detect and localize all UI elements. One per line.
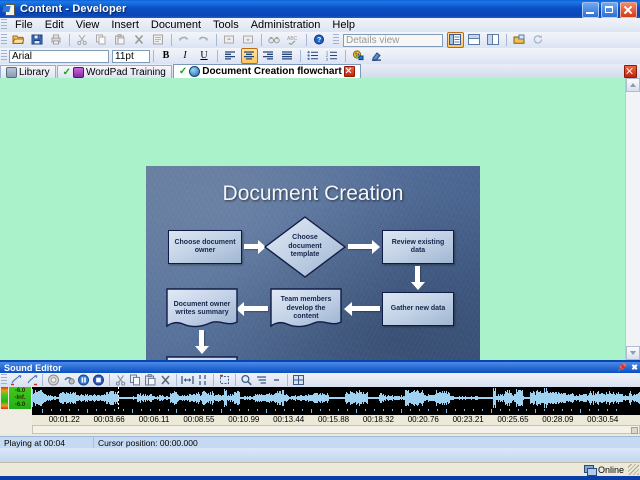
insert-after-button[interactable] — [25, 374, 38, 386]
view-select[interactable]: Details view — [343, 34, 443, 47]
menu-edit[interactable]: Edit — [39, 19, 70, 32]
toolbar-separator — [109, 374, 110, 386]
align-left-button[interactable] — [222, 48, 239, 64]
maximize-button[interactable] — [601, 2, 618, 18]
play-button[interactable] — [62, 374, 75, 386]
align-center-button[interactable] — [241, 48, 258, 64]
timeline-tick — [383, 409, 384, 411]
library-icon — [6, 67, 17, 78]
sound-editor-controls: 📌 ✖ — [617, 362, 638, 373]
tab-label: WordPad Training — [86, 67, 166, 78]
paste-button[interactable] — [144, 374, 157, 386]
levels-button[interactable] — [255, 374, 268, 386]
timeline-tick — [562, 409, 563, 411]
redo-button — [195, 32, 212, 48]
timeline-tick — [176, 409, 177, 413]
svg-text:3: 3 — [326, 57, 328, 61]
tab-label: Library — [19, 67, 50, 78]
check-icon: ✓ — [63, 68, 71, 77]
font-name-select[interactable]: Arial — [9, 50, 109, 63]
meter-bottom-label: -6.0 — [15, 402, 25, 408]
resize-grip[interactable] — [628, 464, 639, 475]
sound-editor-title-bar: Sound Editor 📌 ✖ — [0, 362, 640, 373]
format-toolbar: Arial 11pt B I U 123 — [0, 48, 640, 65]
view-toolbar-grip[interactable] — [333, 34, 339, 46]
toolbar-separator — [153, 50, 154, 62]
timeline-label: 00:20.76 — [408, 415, 439, 424]
timeline-tick — [589, 409, 590, 411]
toolbar-separator — [217, 50, 218, 62]
timeline-tick — [194, 409, 195, 411]
window-bottom-border — [0, 476, 640, 480]
spellcheck-button: ABC — [285, 32, 302, 48]
timeline-tick — [248, 409, 249, 411]
node-label: Choose document owner — [171, 239, 239, 256]
split-vertical-button[interactable] — [485, 32, 502, 48]
connector-summary-to-publish — [198, 330, 205, 354]
toolbar-separator — [506, 34, 507, 46]
timeline-tick — [51, 409, 52, 411]
copy-button — [93, 32, 110, 48]
meter-mid-label: -Inf. — [15, 395, 26, 401]
window-controls — [582, 2, 637, 18]
main-toolbar: ABC ? Details view — [0, 32, 640, 49]
timeline-tick — [293, 409, 294, 411]
node-choose-owner[interactable]: Choose document owner — [168, 230, 242, 264]
timeline-tick — [482, 409, 483, 411]
meter-top-label: -6.0 — [15, 388, 25, 394]
undo-button — [176, 32, 193, 48]
stop-button[interactable] — [92, 374, 105, 386]
insert-before-button[interactable] — [10, 374, 23, 386]
timeline-tick — [455, 409, 456, 411]
italic-button[interactable]: I — [177, 48, 194, 64]
online-label: Online — [598, 465, 624, 475]
toolbar-separator — [306, 34, 307, 46]
markers-button[interactable] — [196, 374, 209, 386]
toolbar-separator — [261, 34, 262, 46]
menu-bar: File Edit View Insert Document Tools Adm… — [0, 18, 640, 33]
format-toolbar-grip[interactable] — [1, 50, 7, 62]
zoom-button[interactable] — [240, 374, 253, 386]
timeline-tick — [329, 409, 330, 411]
delete-button — [131, 32, 148, 48]
menu-view[interactable]: View — [70, 19, 106, 32]
svg-text:?: ? — [317, 37, 321, 44]
timeline-tick — [535, 409, 536, 413]
timeline-tick — [87, 409, 88, 413]
timeline-tick — [96, 409, 97, 411]
timeline-tick — [123, 409, 124, 411]
node-label: Gather new data — [391, 305, 445, 314]
underline-button[interactable]: U — [196, 48, 213, 64]
menu-document[interactable]: Document — [145, 19, 207, 32]
timeline-tick — [571, 409, 572, 411]
timeline-tick — [365, 409, 366, 411]
timeline-label: 00:25.65 — [497, 415, 528, 424]
timeline-tick — [401, 409, 402, 413]
waveform-horizontal-scrollbar[interactable] — [32, 425, 640, 434]
toolbar-separator — [235, 374, 236, 386]
timeline-tick — [105, 409, 106, 411]
scroll-down-button[interactable] — [626, 346, 640, 360]
network-online-icon — [584, 465, 595, 474]
timeline-tick — [347, 409, 348, 411]
sound-editor-toolbar — [0, 373, 640, 388]
toolbar-separator — [42, 374, 43, 386]
scroll-thumb[interactable] — [631, 427, 638, 434]
audio-waveform[interactable] — [32, 387, 640, 409]
online-status: Online — [584, 465, 624, 475]
level-meter-gradient — [1, 387, 8, 409]
menu-file[interactable]: File — [9, 19, 39, 32]
toolbar-separator — [216, 34, 217, 46]
split-horizontal-button[interactable] — [466, 32, 483, 48]
toolbar-grip[interactable] — [1, 34, 7, 46]
timeline-tick — [374, 409, 375, 411]
timeline-tick — [203, 409, 204, 411]
timeline-label: 00:10.99 — [228, 415, 259, 424]
bulleted-list-button[interactable] — [305, 48, 322, 64]
svg-text:ABC: ABC — [287, 36, 298, 42]
select-all-button[interactable] — [181, 374, 194, 386]
timeline-tick — [42, 409, 43, 413]
connector-gather-to-team — [344, 305, 380, 312]
menu-tools[interactable]: Tools — [207, 19, 245, 32]
timeline-label: 00:30.54 — [587, 415, 618, 424]
timeline-labels: 00:01.2200:03.6600:06.1100:08.5500:10.99… — [32, 415, 640, 425]
grid-view-button[interactable] — [292, 374, 305, 386]
node-label: Document owner writes summary — [168, 301, 236, 318]
cut-button[interactable] — [114, 374, 127, 386]
timeline-tick — [159, 409, 160, 411]
node-review-data[interactable]: Review existing data — [382, 230, 454, 264]
application-window: Content - Developer File Edit View Inser… — [0, 0, 640, 480]
timeline-tick — [491, 409, 492, 413]
timeline-tick — [419, 409, 420, 411]
toolbar-separator — [171, 34, 172, 46]
timeline-tick — [302, 409, 303, 411]
window-title: Content - Developer — [20, 3, 126, 15]
toolbar-separator — [176, 374, 177, 386]
toolbar-separator — [213, 374, 214, 386]
timeline-tick — [239, 409, 240, 411]
wordpad-icon — [73, 67, 84, 78]
menu-administration[interactable]: Administration — [245, 19, 327, 32]
timeline-tick — [428, 409, 429, 411]
menu-insert[interactable]: Insert — [105, 19, 145, 32]
timeline-tick — [284, 409, 285, 411]
title-bar: Content - Developer — [0, 0, 640, 18]
tab-document-creation-flowchart[interactable]: ✓ Document Creation flowchart — [173, 64, 361, 78]
timeline-tick — [607, 409, 608, 411]
timeline-label: 00:03.66 — [94, 415, 125, 424]
toolbar-separator — [287, 374, 288, 386]
timeline-tick — [544, 409, 545, 411]
timeline-label: 00:23.21 — [453, 415, 484, 424]
toolbar-separator — [345, 50, 346, 62]
timeline-tick — [392, 409, 393, 411]
flowchart-globe-icon — [189, 66, 200, 77]
waveform-area: -6.0 -Inf. -6.0 — [0, 387, 640, 409]
document-vertical-scrollbar[interactable] — [625, 78, 640, 360]
sound-toolbar-grip[interactable] — [1, 374, 7, 386]
timeline-tick — [446, 409, 447, 413]
timeline-tick — [473, 409, 474, 411]
timeline-label: 00:15.88 — [318, 415, 349, 424]
refresh-button — [530, 32, 547, 48]
move-down-button — [240, 32, 257, 48]
timeline-tick — [526, 409, 527, 411]
node-label: Review existing data — [385, 239, 451, 256]
bold-label: B — [160, 50, 172, 61]
timeline-tick — [338, 409, 339, 411]
paste-button — [112, 32, 129, 48]
flowchart-slide[interactable]: Document Creation Choose document owner … — [146, 166, 480, 360]
properties-button — [150, 32, 167, 48]
numbered-list-button[interactable]: 123 — [324, 48, 341, 64]
help-button[interactable]: ? — [311, 32, 328, 48]
timeline-tick — [500, 409, 501, 411]
close-button[interactable] — [620, 2, 637, 18]
timeline-tick — [553, 409, 554, 411]
app-icon — [3, 3, 16, 16]
move-up-button — [221, 32, 238, 48]
cut-button — [74, 32, 91, 48]
timeline-tick — [320, 409, 321, 411]
tab-wordpad-training[interactable]: ✓ WordPad Training — [57, 65, 172, 78]
check-icon: ✓ — [179, 67, 187, 76]
node-gather-data[interactable]: Gather new data — [382, 292, 454, 326]
connector-owner-to-template — [244, 243, 266, 250]
node-team-content[interactable]: Team members develop the content — [270, 288, 342, 330]
node-label: Choose document template — [275, 234, 335, 260]
find-button — [266, 32, 283, 48]
timeline-label: 00:28.09 — [542, 415, 573, 424]
timeline-label: 00:01.22 — [49, 415, 80, 424]
sound-editor-panel: Sound Editor 📌 ✖ — [0, 362, 640, 465]
timeline-tick — [266, 409, 267, 413]
timeline-label: 00:08.55 — [183, 415, 214, 424]
timeline-tick — [150, 409, 151, 411]
timeline-tick — [580, 409, 581, 413]
tab-label: Document Creation flowchart — [202, 66, 341, 77]
timeline-label: 00:13.44 — [273, 415, 304, 424]
timeline-tick — [114, 409, 115, 411]
timeline-tick — [311, 409, 312, 413]
timeline-tick — [616, 409, 617, 411]
status-bar: Online — [0, 462, 640, 476]
timeline-tick — [168, 409, 169, 411]
connector-review-to-gather — [414, 266, 421, 290]
level-meter-labels: -6.0 -Inf. -6.0 — [9, 387, 31, 409]
node-publish[interactable]: Publish document — [166, 356, 238, 360]
toolbar-separator — [69, 34, 70, 46]
delete-button[interactable] — [159, 374, 172, 386]
menu-grip[interactable] — [1, 19, 7, 31]
timeline-tick — [221, 409, 222, 413]
print-button — [48, 32, 65, 48]
underline-label: U — [198, 50, 210, 61]
timeline-tick — [60, 409, 61, 411]
close-icon[interactable]: ✖ — [631, 363, 638, 372]
tab-strip: Library ✓ WordPad Training ✓ Document Cr… — [0, 64, 640, 79]
tab-library[interactable]: Library — [0, 65, 56, 78]
node-writes-summary[interactable]: Document owner writes summary — [166, 288, 238, 330]
timeline-tick — [212, 409, 213, 411]
timeline-tick — [437, 409, 438, 411]
align-justify-button[interactable] — [279, 48, 296, 64]
details-view-button[interactable] — [447, 32, 464, 48]
node-choose-template[interactable]: Choose document template — [264, 216, 346, 278]
font-color-button[interactable] — [350, 48, 367, 64]
timeline-label: 00:06.11 — [139, 415, 170, 424]
minus-button[interactable] — [270, 374, 283, 386]
document-canvas: Document Creation Choose document owner … — [0, 78, 640, 360]
timeline-tick — [78, 409, 79, 411]
record-button[interactable] — [47, 374, 60, 386]
timeline-tick — [275, 409, 276, 411]
document-shape — [166, 356, 238, 360]
crop-button[interactable] — [218, 374, 231, 386]
timeline-left-pad — [0, 409, 33, 434]
timeline-tick — [230, 409, 231, 411]
save-button[interactable] — [29, 32, 46, 48]
timeline-tick — [185, 409, 186, 411]
close-all-tabs-button[interactable] — [624, 65, 637, 78]
copy-button[interactable] — [129, 374, 142, 386]
sound-editor-title: Sound Editor — [0, 363, 62, 373]
tab-close-icon[interactable] — [344, 66, 355, 77]
timeline-tick — [518, 409, 519, 411]
timeline-tick — [69, 409, 70, 411]
toolbar-separator — [300, 50, 301, 62]
open-external-button[interactable] — [511, 32, 528, 48]
timeline-tick — [598, 409, 599, 411]
font-size-select[interactable]: 11pt — [112, 50, 150, 63]
timeline-tick — [257, 409, 258, 411]
timeline-tick — [132, 409, 133, 413]
align-right-button[interactable] — [260, 48, 277, 64]
node-label: Team members develop the content — [272, 296, 340, 322]
slide-title: Document Creation — [146, 182, 480, 206]
pin-icon[interactable]: 📌 — [617, 363, 627, 372]
timeline-tick — [410, 409, 411, 411]
menu-help[interactable]: Help — [326, 19, 361, 32]
timeline-label: 00:18.32 — [363, 415, 394, 424]
scroll-up-button[interactable] — [626, 78, 640, 92]
highlight-color-button[interactable] — [369, 48, 386, 64]
playhead-marker[interactable] — [118, 387, 119, 409]
connector-template-to-review — [348, 243, 380, 250]
connector-team-to-summary — [236, 305, 268, 312]
bold-button[interactable]: B — [158, 48, 175, 64]
open-button[interactable] — [10, 32, 27, 48]
pause-button[interactable] — [77, 374, 90, 386]
italic-label: I — [179, 50, 191, 61]
timeline-tick — [141, 409, 142, 411]
timeline-tick — [356, 409, 357, 413]
timeline-tick — [464, 409, 465, 411]
minimize-button[interactable] — [582, 2, 599, 18]
timeline-tick — [509, 409, 510, 411]
